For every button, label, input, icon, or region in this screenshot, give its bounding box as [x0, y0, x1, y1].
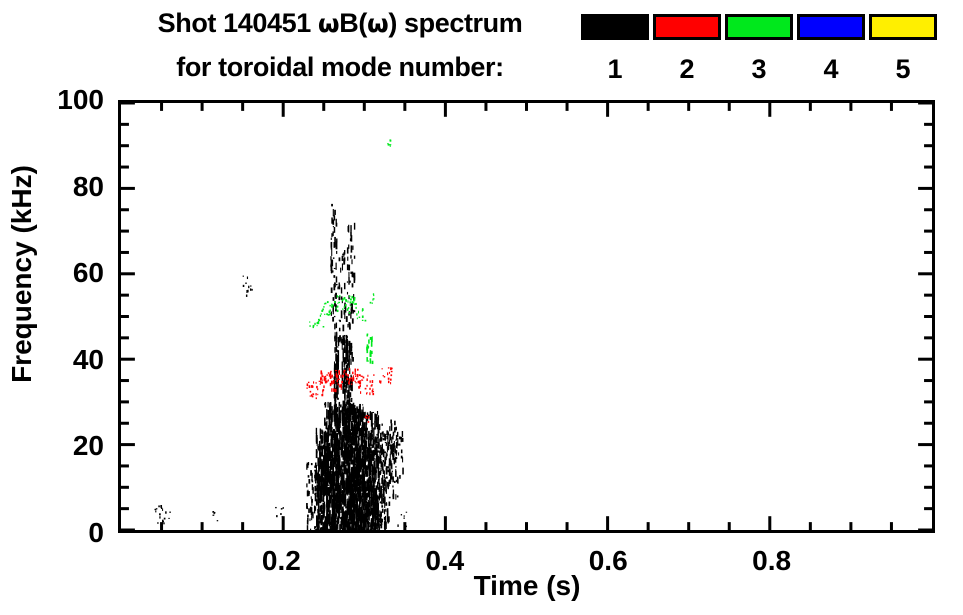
legend-swatch-4	[797, 14, 865, 40]
x-axis-label: Time (s)	[337, 570, 717, 602]
legend-label-3: 3	[725, 54, 793, 85]
series-1-points	[154, 204, 407, 530]
legend-label-1: 1	[581, 54, 649, 85]
y-tick-label-40: 40	[34, 346, 104, 374]
y-tick-label-0: 0	[34, 519, 104, 547]
legend-label-4: 4	[797, 54, 865, 85]
x-tick-label-0.6: 0.6	[563, 547, 653, 575]
plot-frame	[118, 100, 935, 533]
legend-label-5: 5	[869, 54, 937, 85]
legend-swatch-2	[653, 14, 721, 40]
x-tick-label-0.2: 0.2	[236, 547, 326, 575]
legend-swatch-5	[869, 14, 937, 40]
legend-label-2: 2	[653, 54, 721, 85]
legend: 12345	[0, 0, 963, 95]
spectrum-canvas	[121, 103, 932, 530]
y-tick-label-80: 80	[34, 173, 104, 201]
series-3-points	[309, 139, 391, 364]
legend-swatch-1	[581, 14, 649, 40]
x-tick-label-0.8: 0.8	[727, 547, 817, 575]
y-tick-label-20: 20	[34, 432, 104, 460]
x-tick-label-0.4: 0.4	[400, 547, 490, 575]
legend-swatch-3	[725, 14, 793, 40]
y-tick-label-60: 60	[34, 259, 104, 287]
y-tick-label-100: 100	[34, 86, 104, 114]
